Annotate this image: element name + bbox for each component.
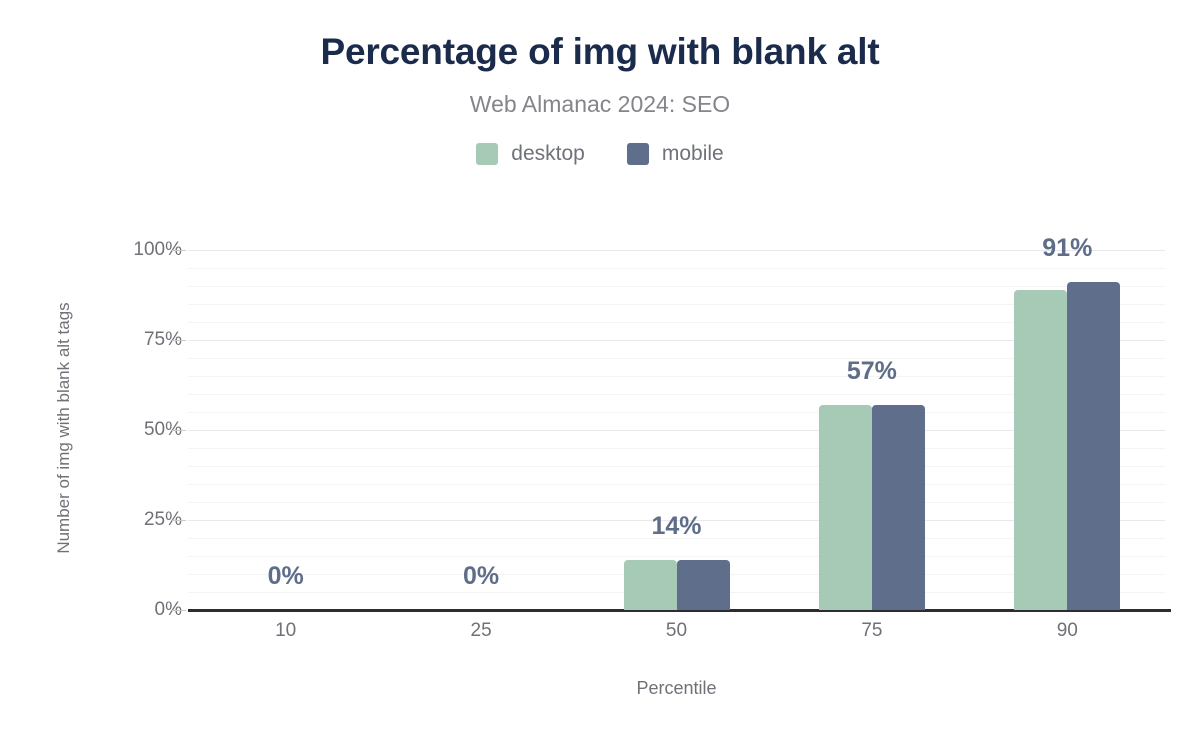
x-axis-title: Percentile (188, 678, 1165, 699)
bar-desktop-p75[interactable] (819, 405, 872, 610)
x-tick-label: 50 (637, 620, 717, 642)
y-tick-label: 50% (92, 420, 182, 439)
data-label-p75: 57% (812, 357, 932, 385)
data-label-p25: 0% (421, 562, 541, 590)
chart-container: Percentage of img with blank alt Web Alm… (0, 0, 1200, 742)
y-tick-label: 0% (92, 600, 182, 619)
bar-mobile-p90[interactable] (1067, 282, 1120, 610)
bar-mobile-p75[interactable] (872, 405, 925, 610)
y-tick-mark (172, 340, 186, 341)
bar-desktop-p90[interactable] (1014, 290, 1067, 610)
plot-area: Number of img with blank alt tags 0%25%5… (0, 0, 1200, 742)
x-tick-label: 10 (246, 620, 326, 642)
y-tick-mark (172, 610, 186, 611)
data-label-p10: 0% (226, 562, 346, 590)
bar-desktop-p50[interactable] (624, 560, 677, 610)
data-label-p50: 14% (617, 512, 737, 540)
y-tick-mark (172, 430, 186, 431)
y-tick-label: 100% (92, 240, 182, 259)
bars-layer (188, 240, 1165, 610)
x-tick-label: 90 (1027, 620, 1107, 642)
y-tick-label: 75% (92, 330, 182, 349)
x-tick-label: 75 (832, 620, 912, 642)
y-tick-mark (172, 250, 186, 251)
x-tick-label: 25 (441, 620, 521, 642)
data-label-p90: 91% (1007, 234, 1127, 262)
y-tick-mark (172, 520, 186, 521)
bar-mobile-p50[interactable] (677, 560, 730, 610)
y-tick-label: 25% (92, 510, 182, 529)
